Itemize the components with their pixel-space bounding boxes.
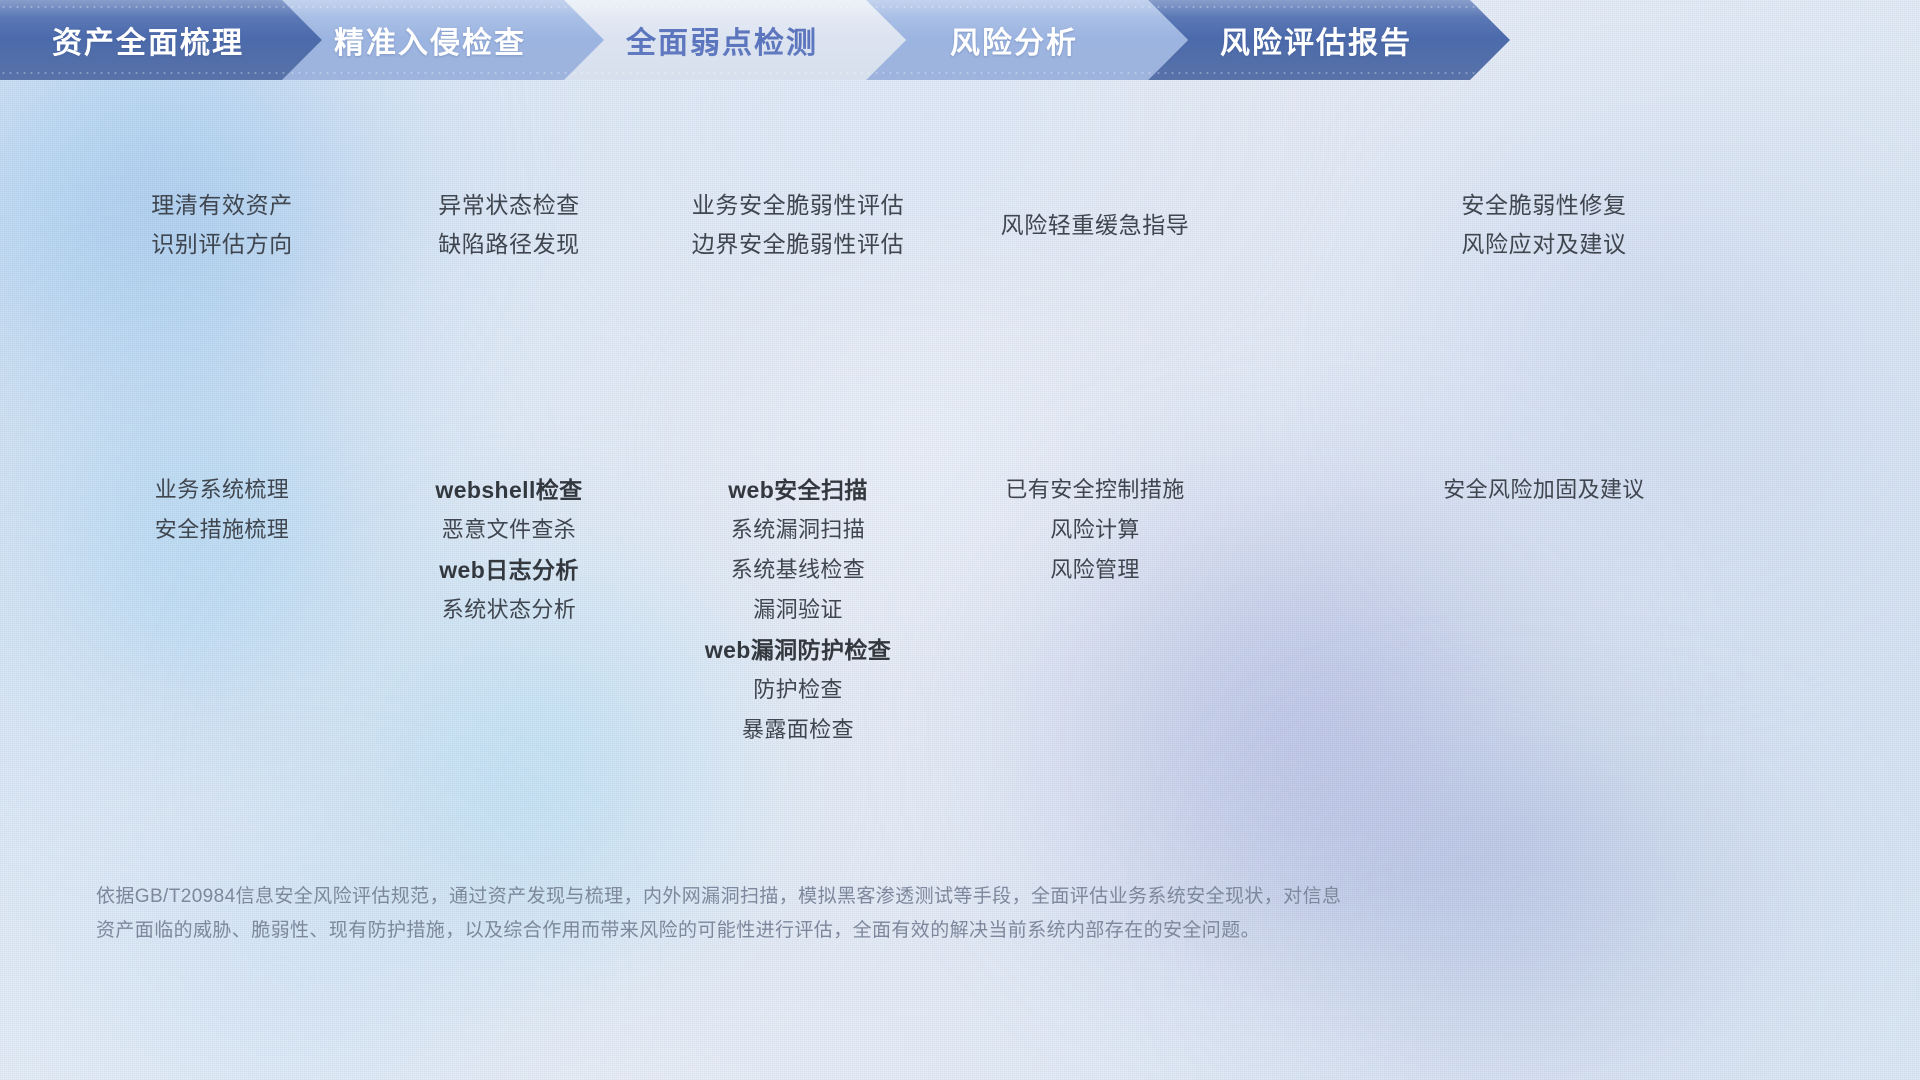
chevron-dot-texture: [0, 70, 322, 76]
top-label: 业务安全脆弱性评估: [692, 186, 904, 225]
stage-item: web漏洞防护检查: [705, 630, 891, 670]
top-labels-intrusion-check: 异常状态检查缺陷路径发现: [370, 186, 648, 264]
chevron-dot-texture: [282, 4, 604, 10]
stage-item: webshell检查: [435, 470, 582, 510]
stage-chevron-row: 资产全面梳理精准入侵检查全面弱点检测风险分析风险评估报告: [0, 0, 1772, 80]
top-labels-weakness-detection: 业务安全脆弱性评估边界安全脆弱性评估: [648, 186, 948, 264]
stage-title: 资产全面梳理: [52, 18, 244, 62]
top-label: 风险应对及建议: [1461, 225, 1626, 264]
stage-item: web安全扫描: [728, 470, 868, 510]
footer-description: 依据GB/T20984信息安全风险评估规范，通过资产发现与梳理，内外网漏洞扫描，…: [96, 880, 1596, 948]
top-label: 缺陷路径发现: [438, 225, 580, 264]
chevron-dot-texture: [564, 4, 906, 10]
top-label: 风险轻重缓急指导: [1001, 206, 1190, 245]
chevron-dot-texture: [866, 70, 1188, 76]
top-label: 理清有效资产: [151, 186, 293, 225]
stage-items-weakness-detection: web安全扫描系统漏洞扫描系统基线检查漏洞验证web漏洞防护检查防护检查暴露面检…: [648, 470, 948, 750]
chevron-dot-texture: [564, 70, 906, 76]
top-label: 安全脆弱性修复: [1461, 186, 1626, 225]
stage-items-asset-inventory: 业务系统梳理安全措施梳理: [74, 470, 370, 550]
stage-item: 系统漏洞扫描: [731, 510, 865, 550]
stage-chevron-risk-analysis[interactable]: 风险分析: [866, 0, 1188, 80]
stage-item: web日志分析: [439, 550, 579, 590]
stage-item: 已有安全控制措施: [1005, 470, 1184, 510]
process-diagram: 理清有效资产识别评估方向异常状态检查缺陷路径发现业务安全脆弱性评估边界安全脆弱性…: [0, 0, 1920, 1080]
top-labels-risk-report: 安全脆弱性修复风险应对及建议: [1242, 186, 1846, 264]
top-labels-row: 理清有效资产识别评估方向异常状态检查缺陷路径发现业务安全脆弱性评估边界安全脆弱性…: [74, 186, 1846, 264]
stage-item: 业务系统梳理: [155, 470, 289, 510]
stage-chevron-asset-inventory[interactable]: 资产全面梳理: [0, 0, 322, 80]
stage-title: 风险分析: [950, 18, 1078, 62]
stage-title: 风险评估报告: [1220, 18, 1412, 62]
top-label: 异常状态检查: [438, 186, 580, 225]
stage-item: 风险管理: [1050, 550, 1140, 590]
stage-item: 恶意文件查杀: [442, 510, 576, 550]
top-label: 识别评估方向: [151, 225, 293, 264]
stage-items-risk-analysis: 已有安全控制措施风险计算风险管理: [948, 470, 1242, 590]
stage-item: 系统状态分析: [442, 590, 576, 630]
top-labels-risk-analysis: 风险轻重缓急指导: [948, 186, 1242, 245]
stage-chevron-intrusion-check[interactable]: 精准入侵检查: [282, 0, 604, 80]
stage-items-row: 业务系统梳理安全措施梳理webshell检查恶意文件查杀web日志分析系统状态分…: [74, 470, 1846, 750]
stage-item: 漏洞验证: [753, 590, 843, 630]
stage-title: 全面弱点检测: [626, 18, 818, 62]
stage-chevron-weakness-detection[interactable]: 全面弱点检测: [564, 0, 906, 80]
stage-item: 安全措施梳理: [155, 510, 289, 550]
top-labels-asset-inventory: 理清有效资产识别评估方向: [74, 186, 370, 264]
stage-title: 精准入侵检查: [334, 18, 526, 62]
stage-items-intrusion-check: webshell检查恶意文件查杀web日志分析系统状态分析: [370, 470, 648, 630]
chevron-dot-texture: [1148, 4, 1510, 10]
stage-item: 风险计算: [1050, 510, 1140, 550]
stage-chevron-risk-report[interactable]: 风险评估报告: [1148, 0, 1510, 80]
stage-items-risk-report: 安全风险加固及建议: [1242, 470, 1846, 510]
stage-item: 系统基线检查: [731, 550, 865, 590]
stage-item: 防护检查: [753, 670, 843, 710]
stage-item: 暴露面检查: [742, 710, 854, 750]
chevron-dot-texture: [1148, 70, 1510, 76]
stage-item: 安全风险加固及建议: [1443, 470, 1645, 510]
chevron-dot-texture: [0, 4, 322, 10]
footer-line-1: 依据GB/T20984信息安全风险评估规范，通过资产发现与梳理，内外网漏洞扫描，…: [96, 880, 1596, 914]
chevron-dot-texture: [282, 70, 604, 76]
top-label: 边界安全脆弱性评估: [692, 225, 904, 264]
chevron-dot-texture: [866, 4, 1188, 10]
footer-line-2: 资产面临的威胁、脆弱性、现有防护措施，以及综合作用而带来风险的可能性进行评估，全…: [96, 914, 1596, 948]
